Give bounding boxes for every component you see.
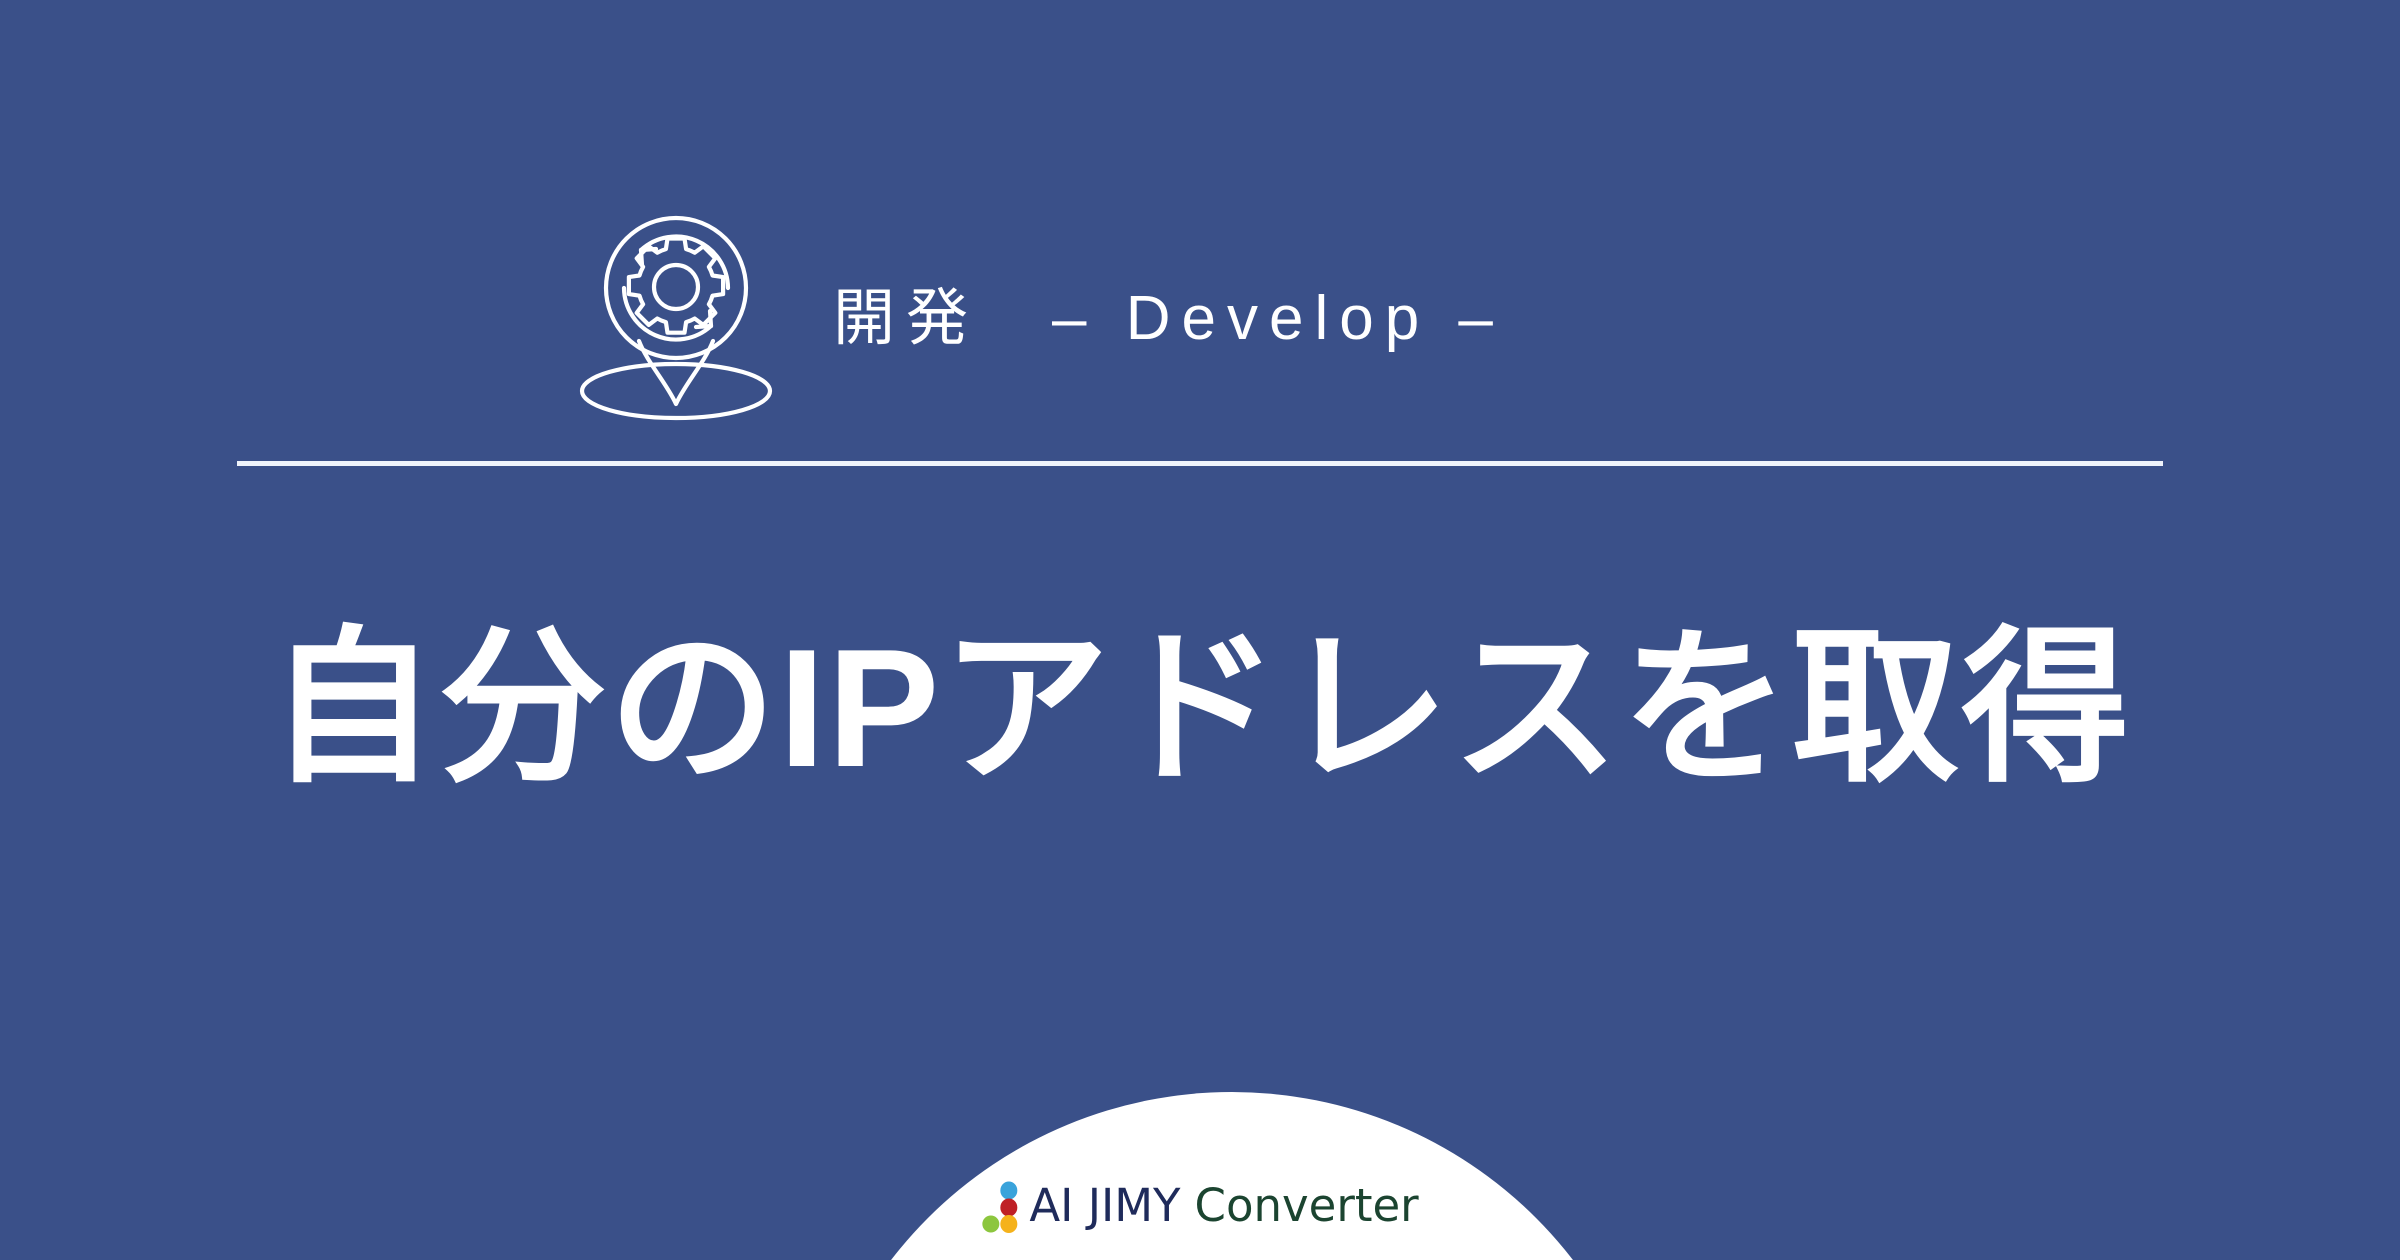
header-row: 開発 – Develop – bbox=[237, 200, 2197, 430]
logo-lockup: AI JIMY Converter bbox=[981, 1178, 1418, 1236]
eyebrow-label: 開発 – Develop – bbox=[833, 288, 1504, 350]
logo-dots-icon bbox=[981, 1181, 1025, 1233]
header-divider bbox=[237, 461, 2163, 466]
logo-brand-text: AI JIMY bbox=[1029, 1183, 1180, 1228]
logo-product-text: Converter bbox=[1195, 1183, 1419, 1228]
location-pin-gear-icon bbox=[567, 208, 785, 423]
page-title: 自分のIPアドレスを取得 bbox=[0, 618, 2400, 799]
slide-canvas: 開発 – Develop – 自分のIPアドレスを取得 AI JIMY Conv… bbox=[0, 0, 2400, 1260]
